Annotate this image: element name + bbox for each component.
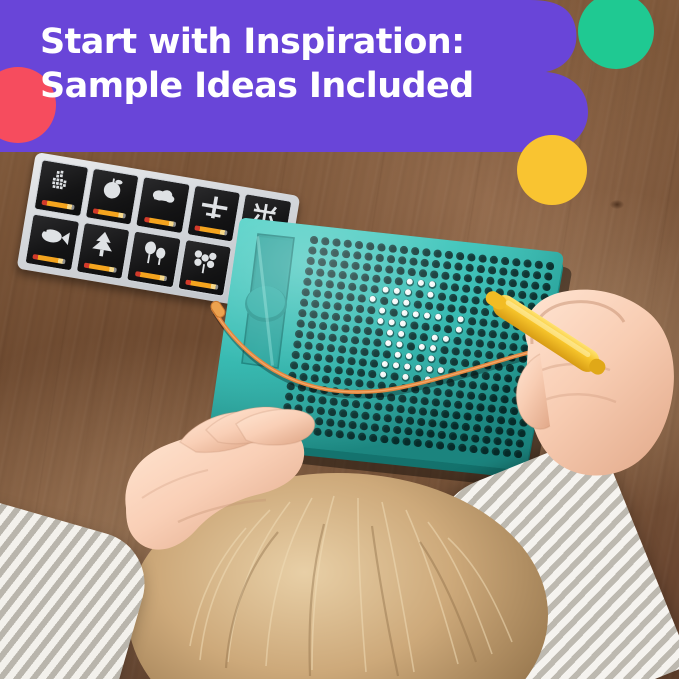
board-dot-inner: [373, 351, 379, 357]
board-dot-inner: [310, 248, 316, 254]
board-dot-inner: [451, 296, 457, 302]
board-dot-inner: [408, 419, 414, 425]
board-dot-inner: [435, 251, 441, 257]
board-dot-inner: [301, 375, 307, 381]
board-dot-bead: [458, 316, 464, 322]
board-dot-inner: [409, 344, 415, 350]
board-dot-bead: [425, 376, 431, 382]
board-dot-inner: [392, 374, 398, 380]
board-dot-inner: [445, 263, 451, 269]
board-dot-inner: [397, 279, 403, 285]
board-dot-inner: [462, 297, 468, 303]
headline-line-2: Sample Ideas Included: [40, 64, 540, 108]
board-dot-inner: [454, 413, 460, 419]
board-dot-inner: [456, 264, 462, 270]
pencil-icon: [33, 254, 66, 264]
board-dot-inner: [424, 250, 430, 256]
board-dot-inner: [390, 246, 396, 252]
board-dot-bead: [419, 344, 425, 350]
board-dot-inner: [367, 393, 373, 399]
board-dot-inner: [417, 292, 423, 298]
child-left-hand: [120, 390, 350, 590]
board-dot-highlight: [426, 377, 428, 379]
board-dot-inner: [366, 329, 372, 335]
board-dot-highlight: [403, 311, 405, 313]
board-dot-inner: [329, 346, 335, 352]
board-dot-bead: [370, 296, 376, 302]
board-dot-inner: [303, 364, 309, 370]
board-dot-inner: [313, 302, 319, 308]
board-dot-inner: [330, 336, 336, 342]
board-dot-inner: [443, 274, 449, 280]
board-dot-inner: [324, 303, 330, 309]
board-dot-inner: [434, 262, 440, 268]
board-dot-highlight: [386, 341, 388, 343]
board-dot-inner: [452, 360, 458, 366]
board-dot-inner: [295, 342, 301, 348]
board-dot-inner: [378, 394, 384, 400]
board-dot-inner: [450, 370, 456, 376]
board-dot-highlight: [383, 362, 385, 364]
board-dot-highlight: [429, 293, 431, 295]
board-dot-inner: [358, 307, 364, 313]
board-dot-inner: [382, 299, 388, 305]
board-dot-inner: [387, 406, 393, 412]
board-dot-inner: [318, 345, 324, 351]
board-dot-highlight: [459, 317, 461, 319]
board-dot-bead: [424, 312, 430, 318]
board-dot-inner: [440, 294, 446, 300]
board-dot-highlight: [404, 301, 406, 303]
board-dot-inner: [353, 338, 359, 344]
board-dot-inner: [402, 386, 408, 392]
board-dot-highlight: [406, 290, 408, 292]
board-dot-inner: [456, 403, 462, 409]
idea-card: [75, 222, 130, 280]
board-dot-inner: [375, 340, 381, 346]
board-dot-inner: [398, 407, 404, 413]
board-dot-highlight: [404, 375, 406, 377]
board-dot-inner: [348, 295, 354, 301]
board-dot-inner: [355, 253, 361, 259]
board-dot-inner: [323, 313, 329, 319]
board-dot-inner: [410, 334, 416, 340]
board-dot-inner: [435, 326, 441, 332]
board-dot-inner: [334, 240, 340, 246]
board-dot-inner: [449, 306, 455, 312]
board-dot-highlight: [393, 299, 395, 301]
board-dot-bead: [380, 371, 386, 377]
board-dot-inner: [369, 308, 375, 314]
board-dot-inner: [321, 324, 327, 330]
board-dot-inner: [345, 316, 351, 322]
board-dot-inner: [370, 372, 376, 378]
board-dot-inner: [302, 300, 308, 306]
board-dot-bead: [438, 367, 444, 373]
board-dot-inner: [352, 274, 358, 280]
board-dot-inner: [311, 312, 317, 318]
board-dot-inner: [387, 267, 393, 273]
board-dot-inner: [290, 374, 296, 380]
board-dot-bead: [427, 366, 433, 372]
board-dot-inner: [458, 254, 464, 260]
yellow-circle: [517, 135, 587, 205]
board-dot-highlight: [396, 353, 398, 355]
board-dot-inner: [338, 358, 344, 364]
board-dot-inner: [361, 286, 367, 292]
board-dot-inner: [362, 424, 368, 430]
board-dot-inner: [430, 421, 436, 427]
board-dot-inner: [391, 310, 397, 316]
board-dot-inner: [453, 349, 459, 355]
board-dot-inner: [458, 392, 464, 398]
board-dot-inner: [421, 271, 427, 277]
card-art-balloon: [134, 235, 175, 271]
board-dot-highlight: [381, 372, 383, 374]
board-dot-bead: [396, 341, 402, 347]
board-dot-inner: [460, 307, 466, 313]
board-dot-bead: [379, 308, 385, 314]
board-dot-highlight: [390, 320, 392, 322]
board-dot-bead: [394, 288, 400, 294]
board-dot-bead: [429, 281, 435, 287]
board-dot-inner: [372, 361, 378, 367]
board-dot-highlight: [420, 345, 422, 347]
board-dot-inner: [376, 266, 382, 272]
board-dot-inner: [411, 398, 417, 404]
board-dot-inner: [412, 323, 418, 329]
board-dot-inner: [400, 396, 406, 402]
board-dot-inner: [434, 400, 440, 406]
board-dot-bead: [402, 374, 408, 380]
board-dot-inner: [419, 420, 425, 426]
board-dot-bead: [443, 336, 449, 342]
board-dot-highlight: [395, 289, 397, 291]
board-dot-inner: [385, 278, 391, 284]
board-dot-inner: [300, 311, 306, 317]
board-dot-inner: [397, 417, 403, 423]
board-dot-inner: [303, 290, 309, 296]
board-dot-inner: [354, 402, 360, 408]
board-dot-inner: [328, 282, 334, 288]
board-dot-highlight: [379, 319, 381, 321]
idea-card: [126, 230, 181, 288]
board-dot-inner: [437, 379, 443, 385]
board-dot-inner: [292, 363, 298, 369]
board-dot-inner: [324, 377, 330, 383]
board-dot-inner: [416, 302, 422, 308]
board-dot-inner: [335, 304, 341, 310]
board-dot-bead: [400, 320, 406, 326]
board-dot-inner: [315, 291, 321, 297]
board-dot-inner: [418, 356, 424, 362]
board-dot-inner: [400, 258, 406, 264]
board-dot-inner: [310, 323, 316, 329]
board-dot-inner: [455, 339, 461, 345]
banner-headline: Start with Inspiration: Sample Ideas Inc…: [40, 20, 540, 108]
board-dot-highlight: [380, 309, 382, 311]
board-dot-inner: [410, 408, 416, 414]
board-dot-inner: [359, 371, 365, 377]
board-dot-bead: [415, 365, 421, 371]
board-dot-inner: [293, 353, 299, 359]
board-dot-inner: [366, 254, 372, 260]
board-dot-inner: [365, 403, 371, 409]
board-dot-inner: [308, 333, 314, 339]
magnetic-stylus[interactable]: [470, 268, 630, 398]
board-dot-inner: [326, 293, 332, 299]
board-dot-inner: [362, 350, 368, 356]
board-dot-highlight: [444, 337, 446, 339]
board-dot-inner: [327, 356, 333, 362]
board-dot-bead: [383, 287, 389, 293]
board-dot-inner: [459, 382, 465, 388]
board-dot-inner: [464, 425, 470, 431]
board-dot-bead: [430, 345, 436, 351]
board-dot-bead: [407, 279, 413, 285]
board-dot-inner: [428, 431, 434, 437]
board-dot-inner: [424, 388, 430, 394]
board-dot-inner: [435, 390, 441, 396]
board-dot-highlight: [408, 280, 410, 282]
board-dot-bead: [393, 362, 399, 368]
board-dot-inner: [305, 354, 311, 360]
board-dot-inner: [385, 352, 391, 358]
board-dot-inner: [316, 355, 322, 361]
board-dot-inner: [337, 294, 343, 300]
board-dot-inner: [448, 380, 454, 386]
board-dot-inner: [361, 360, 367, 366]
board-dot-highlight: [428, 367, 430, 369]
board-dot-inner: [352, 412, 358, 418]
board-dot-inner: [355, 391, 361, 397]
board-dot-inner: [452, 423, 458, 429]
board-dot-highlight: [425, 313, 427, 315]
board-dot-inner: [307, 269, 313, 275]
board-dot-inner: [342, 337, 348, 343]
board-dot-bead: [398, 331, 404, 337]
board-dot-highlight: [436, 315, 438, 317]
board-dot-inner: [331, 261, 337, 267]
board-dot-inner: [422, 399, 428, 405]
board-dot-inner: [422, 335, 428, 341]
board-dot-bead: [377, 318, 383, 324]
board-dot-inner: [377, 330, 383, 336]
board-dot-inner: [323, 239, 329, 245]
board-dot-inner: [348, 369, 354, 375]
board-dot-inner: [395, 428, 401, 434]
board-dot-inner: [351, 348, 357, 354]
board-dot-inner: [413, 249, 419, 255]
board-dot-inner: [391, 385, 397, 391]
board-dot-highlight: [398, 342, 400, 344]
board-dot-inner: [447, 253, 453, 259]
board-dot-inner: [353, 264, 359, 270]
board-dot-bead: [389, 319, 395, 325]
board-dot-inner: [421, 409, 427, 415]
board-dot-highlight: [431, 346, 433, 348]
board-dot-inner: [320, 260, 326, 266]
board-dot-bead: [385, 340, 391, 346]
board-dot-inner: [368, 382, 374, 388]
board-dot-inner: [398, 269, 404, 275]
board-dot-inner: [376, 404, 382, 410]
board-dot-inner: [321, 249, 327, 255]
board-dot-inner: [298, 321, 304, 327]
board-dot-inner: [314, 366, 320, 372]
board-dot-inner: [312, 238, 318, 244]
board-dot-inner: [318, 270, 324, 276]
board-dot-inner: [453, 285, 459, 291]
board-dot-inner: [297, 332, 303, 338]
board-dot-inner: [332, 325, 338, 331]
board-dot-inner: [360, 296, 366, 302]
board-dot-inner: [446, 327, 452, 333]
board-dot-inner: [422, 261, 428, 267]
board-dot-bead: [387, 330, 393, 336]
board-dot-highlight: [419, 281, 421, 283]
board-dot-inner: [347, 305, 353, 311]
board-dot-inner: [440, 433, 446, 439]
board-dot-highlight: [394, 363, 396, 365]
headline-line-1: Start with Inspiration:: [40, 20, 540, 64]
board-dot-inner: [363, 414, 369, 420]
board-dot-inner: [373, 425, 379, 431]
board-dot-bead: [406, 353, 412, 359]
board-dot-inner: [389, 395, 395, 401]
board-dot-inner: [308, 259, 314, 265]
board-dot-inner: [417, 430, 423, 436]
board-dot-inner: [305, 280, 311, 286]
board-dot-inner: [406, 429, 412, 435]
board-dot-bead: [428, 356, 434, 362]
board-dot-inner: [354, 328, 360, 334]
board-dot-inner: [441, 358, 447, 364]
board-dot-inner: [415, 377, 421, 383]
board-dot-inner: [337, 368, 343, 374]
card-art-tree: [84, 227, 125, 263]
board-dot-inner: [363, 275, 369, 281]
board-dot-highlight: [371, 297, 373, 299]
board-dot-inner: [378, 256, 384, 262]
board-dot-inner: [374, 277, 380, 283]
board-dot-inner: [339, 283, 345, 289]
board-dot-inner: [389, 257, 395, 263]
board-dot-inner: [346, 380, 352, 386]
board-dot-inner: [319, 334, 325, 340]
board-dot-highlight: [433, 336, 435, 338]
board-dot-inner: [410, 270, 416, 276]
board-dot-inner: [386, 416, 392, 422]
board-dot-inner: [379, 383, 385, 389]
board-dot-highlight: [399, 332, 401, 334]
board-dot-inner: [441, 284, 447, 290]
pencil-icon: [135, 271, 168, 281]
board-dot-bead: [435, 314, 441, 320]
board-dot-inner: [454, 275, 460, 281]
board-dot-inner: [312, 376, 318, 382]
board-dot-inner: [349, 359, 355, 365]
board-dot-inner: [438, 305, 444, 311]
board-dot-inner: [357, 243, 363, 249]
board-dot-inner: [411, 259, 417, 265]
board-dot-bead: [427, 292, 433, 298]
board-dot-inner: [356, 317, 362, 323]
board-dot-bead: [456, 327, 462, 333]
board-dot-inner: [442, 348, 448, 354]
board-dot-bead: [403, 300, 409, 306]
board-dot-inner: [447, 391, 453, 397]
board-dot-bead: [392, 298, 398, 304]
board-dot-inner: [334, 315, 340, 321]
board-dot-highlight: [405, 364, 407, 366]
board-dot-bead: [395, 352, 401, 358]
board-dot-inner: [432, 411, 438, 417]
board-dot-bead: [413, 311, 419, 317]
board-dot-inner: [344, 252, 350, 258]
board-dot-inner: [372, 287, 378, 293]
board-dot-inner: [461, 371, 467, 377]
board-dot-inner: [423, 325, 429, 331]
board-dot-inner: [340, 347, 346, 353]
board-dot-highlight: [401, 321, 403, 323]
board-dot-highlight: [457, 328, 459, 330]
board-dot-bead: [404, 363, 410, 369]
board-dot-inner: [350, 423, 356, 429]
board-dot-inner: [342, 262, 348, 268]
board-dot-highlight: [429, 357, 431, 359]
board-dot-inner: [427, 304, 433, 310]
board-dot-highlight: [414, 312, 416, 314]
board-dot-inner: [463, 361, 469, 367]
board-dot-inner: [340, 273, 346, 279]
board-dot-inner: [441, 422, 447, 428]
board-dot-inner: [445, 401, 451, 407]
board-dot-bead: [402, 310, 408, 316]
board-dot-highlight: [388, 331, 390, 333]
promo-image: Start with Inspiration: Sample Ideas Inc…: [0, 0, 679, 679]
board-dot-inner: [346, 242, 352, 248]
board-dot-inner: [447, 317, 453, 323]
board-dot-highlight: [384, 288, 386, 290]
board-dot-bead: [418, 280, 424, 286]
board-dot-highlight: [430, 282, 432, 284]
board-dot-inner: [325, 367, 331, 373]
board-dot-inner: [333, 251, 339, 257]
board-dot-inner: [374, 415, 380, 421]
board-dot-bead: [382, 361, 388, 367]
board-dot-inner: [432, 272, 438, 278]
board-dot-bead: [405, 289, 411, 295]
board-dot-inner: [368, 244, 374, 250]
board-dot-inner: [335, 379, 341, 385]
board-dot-inner: [367, 318, 373, 324]
board-dot-bead: [432, 335, 438, 341]
board-dot-highlight: [407, 354, 409, 356]
board-dot-inner: [364, 339, 370, 345]
board-dot-inner: [384, 427, 390, 433]
board-dot-inner: [402, 248, 408, 254]
board-dot-inner: [316, 281, 322, 287]
board-dot-inner: [379, 245, 385, 251]
board-dot-inner: [329, 272, 335, 278]
pencil-icon: [84, 263, 117, 273]
board-dot-inner: [413, 387, 419, 393]
board-dot-inner: [357, 381, 363, 387]
board-dot-inner: [350, 285, 356, 291]
board-dot-highlight: [416, 366, 418, 368]
board-dot-highlight: [439, 368, 441, 370]
